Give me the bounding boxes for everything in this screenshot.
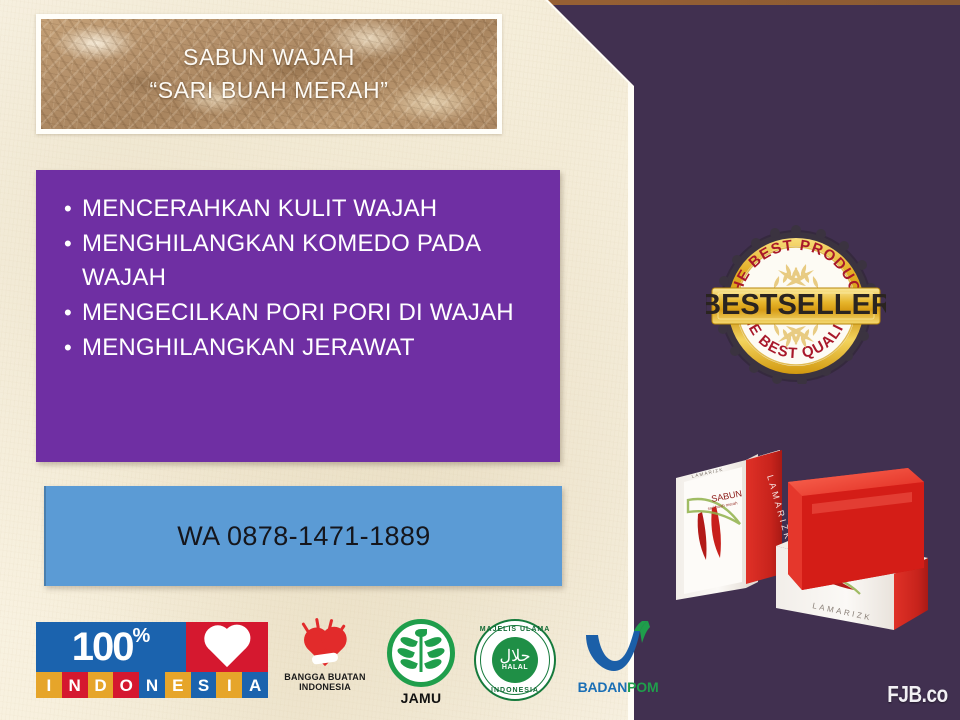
product-soap-bar [784, 468, 924, 622]
bullet-icon: • [54, 227, 82, 261]
logo-bangga-line-2: INDONESIA [282, 682, 368, 692]
badge-center-text: BESTSELLER [706, 289, 886, 321]
benefit-label: MENGECILKAN PORI PORI DI WAJAH [82, 296, 542, 330]
logo-pom-word-1: BADAN [578, 679, 628, 695]
logo-100-letter: N [139, 672, 165, 698]
logo-jamu: JAMU [382, 619, 460, 701]
logo-100-letter: I [216, 672, 242, 698]
benefits-box: • MENCERAHKAN KULIT WAJAH • MENGHILANGKA… [36, 170, 560, 462]
title-banner: SABUN WAJAH “SARI BUAH MERAH” [36, 14, 502, 134]
bullet-icon: • [54, 192, 82, 226]
list-item: • MENGHILANGKAN KOMEDO PADA WAJAH [54, 227, 542, 295]
logo-100-letter: D [88, 672, 114, 698]
logo-pom-word-2: POM [627, 679, 658, 695]
title-line-1: SABUN WAJAH [150, 41, 389, 74]
bullet-icon: • [54, 296, 82, 330]
title-line-2: “SARI BUAH MERAH” [150, 74, 389, 107]
halal-seal-icon: MAJELIS ULAMA INDONESIA حلال HALAL [474, 619, 556, 701]
logo-100-letter: I [36, 672, 62, 698]
benefit-label: MENGHILANGKAN KOMEDO PADA WAJAH [82, 227, 542, 295]
list-item: • MENCERAHKAN KULIT WAJAH [54, 192, 542, 226]
logo-100-letter: S [191, 672, 217, 698]
whatsapp-number: WA 0878-1471-1889 [177, 521, 430, 552]
logo-bangga-buatan-indonesia: BANGGA BUATAN INDONESIA [282, 620, 368, 700]
logo-bangga-line-1: BANGGA BUATAN [282, 672, 368, 682]
logo-badan-pom-label: BADANPOM [570, 679, 666, 695]
bestseller-badge: THE BEST PRODUCT THE BEST QUALITY [706, 224, 886, 384]
title-banner-texture: SABUN WAJAH “SARI BUAH MERAH” [41, 19, 497, 129]
logo-100-letter: A [242, 672, 268, 698]
logo-jamu-label: JAMU [382, 690, 460, 706]
contact-box[interactable]: WA 0878-1471-1889 [44, 486, 562, 586]
logo-100-letter: E [165, 672, 191, 698]
benefits-list: • MENCERAHKAN KULIT WAJAH • MENGHILANGKA… [54, 192, 542, 365]
halal-arabic-text: حلال [499, 650, 530, 664]
logo-100-letter: N [62, 672, 88, 698]
logo-100-number: 100 [72, 627, 133, 667]
halal-arc-top: MAJELIS ULAMA [476, 626, 554, 633]
logo-100-number-block: 100 % [36, 622, 186, 672]
logo-100-indonesia: 100 % I N D O N E S I A [36, 622, 268, 698]
watermark: FJB.co [888, 681, 948, 708]
heart-thumbs-up-icon [282, 620, 368, 672]
check-swoosh-icon [584, 621, 650, 673]
logo-100-top: 100 % [36, 622, 268, 672]
page-title: SABUN WAJAH “SARI BUAH MERAH” [150, 41, 389, 107]
list-item: • MENGHILANGKAN JERAWAT [54, 331, 542, 365]
logo-100-percent: % [132, 626, 150, 646]
slide-canvas: SABUN WAJAH “SARI BUAH MERAH” • MENCERAH… [0, 0, 960, 720]
halal-word: HALAL [502, 664, 528, 671]
logo-badan-pom: BADANPOM [570, 619, 666, 701]
logo-100-wordmark: I N D O N E S I A [36, 672, 268, 698]
bullet-icon: • [54, 331, 82, 365]
benefit-label: MENGHILANGKAN JERAWAT [82, 331, 542, 365]
logo-100-heart-block [186, 622, 268, 672]
certification-logo-strip: 100 % I N D O N E S I A [36, 612, 631, 708]
halal-core: حلال HALAL [492, 637, 538, 683]
list-item: • MENGECILKAN PORI PORI DI WAJAH [54, 296, 542, 330]
halal-arc-bottom: INDONESIA [476, 687, 554, 694]
benefit-label: MENCERAHKAN KULIT WAJAH [82, 192, 542, 226]
heart-icon [208, 629, 246, 667]
product-photo: SABUN sari buah merah LAMARIZK LAMARIZK … [672, 442, 944, 642]
logo-halal-mui: MAJELIS ULAMA INDONESIA حلال HALAL [474, 619, 556, 701]
logo-100-letter: O [113, 672, 139, 698]
herbal-plant-icon [387, 619, 455, 687]
